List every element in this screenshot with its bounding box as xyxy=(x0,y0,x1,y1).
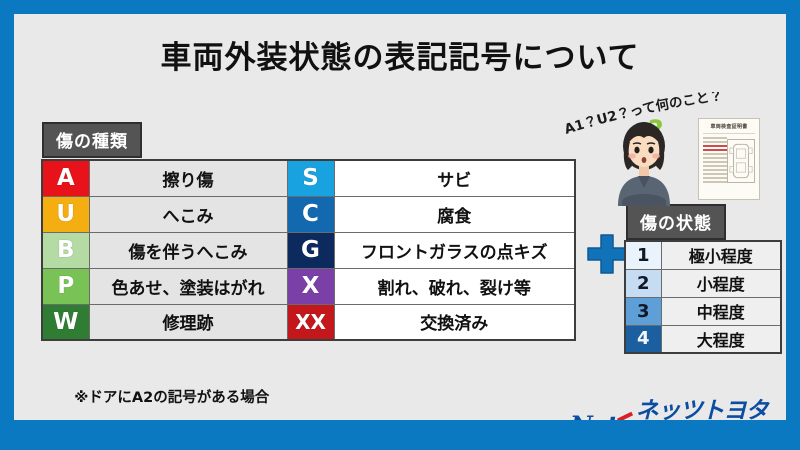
table-row: W修理跡XX交換済み xyxy=(42,304,575,340)
damage-level-label-1: 極小程度 xyxy=(661,241,781,269)
table-row: 3中程度 xyxy=(625,297,781,325)
damage-level-label-4: 大程度 xyxy=(661,325,781,353)
content-panel: 車両外装状態の表記記号について 傷の種類 傷の状態 A擦り傷SサビUへこみC腐食… xyxy=(14,14,786,420)
table-row: UへこみC腐食 xyxy=(42,196,575,232)
certificate-body xyxy=(703,137,755,193)
damage-code-XX: XX xyxy=(287,304,334,340)
damage-level-label-3: 中程度 xyxy=(661,297,781,325)
table-row: P色あせ、塗装はがれX割れ、破れ、裂け等 xyxy=(42,268,575,304)
damage-description-B: 傷を伴うへこみ xyxy=(89,232,287,268)
damage-description-XX: 交換済み xyxy=(334,304,575,340)
damage-level-3: 3 xyxy=(625,297,661,325)
certificate-title: 車両検査証明書 xyxy=(699,123,759,130)
table-row: 1極小程度 xyxy=(625,241,781,269)
damage-description-C: 腐食 xyxy=(334,196,575,232)
damage-code-G: G xyxy=(287,232,334,268)
damage-code-C: C xyxy=(287,196,334,232)
speech-text: A1？U2？って何のこと？ xyxy=(562,92,800,138)
footnote-line-1: ※ドアにA2の記号がある場合 xyxy=(74,390,269,406)
damage-type-table: A擦り傷SサビUへこみC腐食B傷を伴うへこみGフロントガラスの点キズP色あせ、塗… xyxy=(41,159,576,341)
table-row: B傷を伴うへこみGフロントガラスの点キズ xyxy=(42,232,575,268)
damage-code-B: B xyxy=(42,232,89,268)
damage-level-2: 2 xyxy=(625,269,661,297)
damage-level-4: 4 xyxy=(625,325,661,353)
damage-level-1: 1 xyxy=(625,241,661,269)
damage-description-W: 修理跡 xyxy=(89,304,287,340)
car-diagram-icon xyxy=(727,139,755,183)
damage-state-table: 1極小程度2小程度3中程度4大程度 xyxy=(624,240,782,354)
table-row: 4大程度 xyxy=(625,325,781,353)
section-label-damage-type: 傷の種類 xyxy=(42,122,142,158)
damage-code-W: W xyxy=(42,304,89,340)
damage-description-X: 割れ、破れ、裂け等 xyxy=(334,268,575,304)
certificate-divider xyxy=(703,133,755,134)
certificate-text-lines xyxy=(703,137,727,185)
slide-root: 車両外装状態の表記記号について 傷の種類 傷の状態 A擦り傷SサビUへこみC腐食… xyxy=(0,0,800,450)
damage-level-label-2: 小程度 xyxy=(661,269,781,297)
damage-description-U: へこみ xyxy=(89,196,287,232)
damage-code-P: P xyxy=(42,268,89,304)
damage-description-S: サビ xyxy=(334,160,575,196)
person-illustration xyxy=(608,114,680,206)
damage-description-G: フロントガラスの点キズ xyxy=(334,232,575,268)
section-label-damage-state: 傷の状態 xyxy=(626,204,726,240)
damage-code-X: X xyxy=(287,268,334,304)
damage-description-P: 色あせ、塗装はがれ xyxy=(89,268,287,304)
damage-code-U: U xyxy=(42,196,89,232)
table-row: 2小程度 xyxy=(625,269,781,297)
damage-description-A: 擦り傷 xyxy=(89,160,287,196)
damage-code-S: S xyxy=(287,160,334,196)
inspection-certificate-illustration: 車両検査証明書 xyxy=(698,118,760,200)
damage-code-A: A xyxy=(42,160,89,196)
bottom-bar xyxy=(0,420,800,450)
table-row: A擦り傷Sサビ xyxy=(42,160,575,196)
plus-icon xyxy=(586,233,628,275)
page-title: 車両外装状態の表記記号について xyxy=(14,32,786,77)
